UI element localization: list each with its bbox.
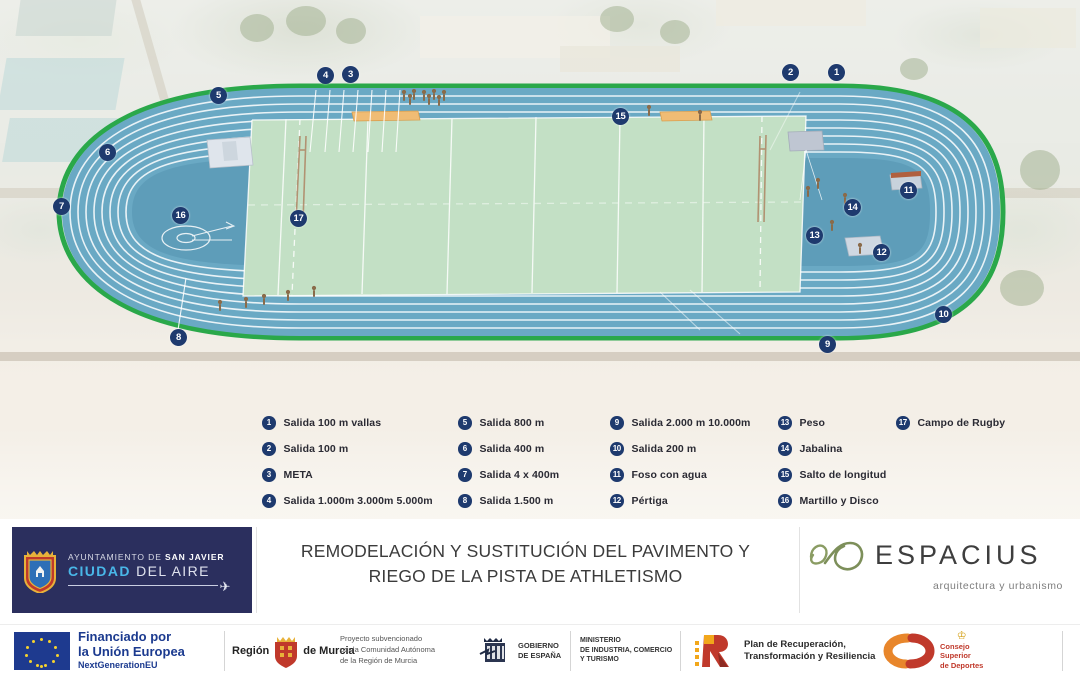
region-murcia-logo: Región de Murcia [232, 625, 355, 675]
eu-funding-block: Financiado por la Unión Europea NextGene… [14, 625, 185, 675]
legend-number: 14 [778, 442, 792, 456]
funding-footer: Financiado por la Unión Europea NextGene… [0, 624, 1080, 675]
legend-item[interactable]: 17 Campo de Rugby [896, 410, 1062, 436]
judges-platform [207, 137, 253, 168]
prtr-line1: Plan de Recuperación, [744, 639, 875, 651]
legend-number: 9 [610, 416, 624, 430]
ayuntamiento-line: AYUNTAMIENTO DE SAN JAVIER [68, 552, 224, 562]
footer-divider [680, 631, 681, 671]
legend-number: 7 [458, 468, 472, 482]
legend-label: Campo de Rugby [918, 417, 1006, 429]
athletics-track-plan [0, 0, 1080, 400]
legend-item[interactable]: 15 Salto de longitud [778, 462, 896, 488]
plan-marker-15[interactable]: 15 [612, 108, 629, 125]
banner-divider [256, 527, 257, 613]
ministerio-line3: Y TURISMO [580, 655, 672, 664]
subvencion-line3: de la Región de Murcia [340, 656, 435, 667]
legend-label: Pértiga [632, 495, 668, 507]
prtr-logo: Plan de Recuperación, Transformación y R… [694, 625, 875, 675]
legend-label: Salida 1.500 m [480, 495, 554, 507]
legend-label: Salida 100 m [284, 443, 349, 455]
legend-item[interactable]: 11 Foso con agua [610, 462, 778, 488]
plan-marker-4[interactable]: 4 [317, 67, 334, 84]
legend-number: 1 [262, 416, 276, 430]
legend-number: 11 [610, 468, 624, 482]
legend-column: 9 Salida 2.000 m 10.000m 10 Salida 200 m… [610, 410, 778, 514]
airplane-icon: ✈ [220, 579, 231, 595]
legend-number: 6 [458, 442, 472, 456]
plan-marker-1[interactable]: 1 [828, 64, 845, 81]
plan-marker-16[interactable]: 16 [172, 207, 189, 224]
gobierno-line1: GOBIERNO [518, 641, 561, 651]
footer-divider [1062, 631, 1063, 671]
legend-number: 2 [262, 442, 276, 456]
plan-marker-9[interactable]: 9 [819, 336, 836, 353]
rugby-infield [243, 116, 806, 296]
legend-item[interactable]: 8 Salida 1.500 m [458, 488, 610, 514]
legend-label: Salida 200 m [632, 443, 697, 455]
project-title-line1: REMODELACIÓN Y SUSTITUCIÓN DEL PAVIMENTO… [258, 539, 793, 564]
project-banner: AYUNTAMIENTO DE SAN JAVIER CIUDAD DEL AI… [0, 519, 1080, 622]
eu-line3: NextGenerationEU [78, 660, 185, 670]
legend-label: Foso con agua [632, 469, 707, 481]
subvencion-line1: Proyecto subvencionado [340, 634, 435, 645]
legend-label: Salida 2.000 m 10.000m [632, 417, 751, 429]
crown-icon: ♔ [940, 631, 983, 642]
csd-line3: de Deportes [940, 661, 983, 670]
csd-mark-icon [880, 633, 940, 669]
legend-label: Salida 1.000m 3.000m 5.000m [284, 495, 433, 507]
legend-label: META [284, 469, 313, 481]
legend: 1 Salida 100 m vallas 2 Salida 100 m 3 M… [262, 410, 1062, 514]
ciudad-del-aire-line: CIUDAD DEL AIRE [68, 563, 224, 579]
ayuntamiento-san-javier-logo: AYUNTAMIENTO DE SAN JAVIER CIUDAD DEL AI… [12, 527, 252, 613]
legend-column: 13 Peso 14 Jabalina 15 Salto de longitud… [778, 410, 896, 514]
murcia-pre-text: Región [232, 645, 269, 657]
plane-rule: ✈ [68, 583, 224, 589]
legend-label: Salida 100 m vallas [284, 417, 382, 429]
legend-label: Salida 400 m [480, 443, 545, 455]
legend-item[interactable]: 13 Peso [778, 410, 896, 436]
prtr-line2: Transformación y Resiliencia [744, 651, 875, 663]
plan-marker-12[interactable]: 12 [873, 244, 890, 261]
legend-item[interactable]: 5 Salida 800 m [458, 410, 610, 436]
san-javier-text: AYUNTAMIENTO DE SAN JAVIER CIUDAD DEL AI… [68, 552, 224, 589]
eu-line1: Financiado por [78, 630, 185, 645]
espacius-mark-icon [805, 533, 875, 577]
plan-marker-5[interactable]: 5 [210, 87, 227, 104]
ministerio-block: MINISTERIO DE INDUSTRIA, COMERCIO Y TURI… [580, 625, 672, 675]
legend-column: 1 Salida 100 m vallas 2 Salida 100 m 3 M… [262, 410, 458, 514]
legend-item[interactable]: 12 Pértiga [610, 488, 778, 514]
legend-number: 8 [458, 494, 472, 508]
coat-of-arms-icon [22, 547, 58, 593]
eu-flag-icon [14, 632, 70, 670]
project-title-line2: RIEGO DE LA PISTA DE ATHLETISMO [258, 564, 793, 589]
legend-column: 5 Salida 800 m 6 Salida 400 m 7 Salida 4… [458, 410, 610, 514]
legend-number: 17 [896, 416, 910, 430]
legend-label: Martillo y Disco [800, 495, 879, 507]
legend-number: 15 [778, 468, 792, 482]
footer-divider [224, 631, 225, 671]
murcia-shield-icon [273, 634, 299, 668]
csd-logo: ♔ Consejo Superior de Deportes [880, 625, 983, 675]
banner-divider [799, 527, 800, 613]
gobierno-espana-logo: GOBIERNO DE ESPAÑA [478, 625, 561, 675]
csd-line1: Consejo [940, 642, 983, 651]
plan-marker-3[interactable]: 3 [342, 66, 359, 83]
legend-item[interactable]: 6 Salida 400 m [458, 436, 610, 462]
subvencion-text-block: Proyecto subvencionado por la Comunidad … [340, 625, 435, 675]
legend-number: 12 [610, 494, 624, 508]
legend-number: 3 [262, 468, 276, 482]
plan-marker-10[interactable]: 10 [935, 306, 952, 323]
legend-number: 5 [458, 416, 472, 430]
legend-number: 16 [778, 494, 792, 508]
prtr-mark-icon [694, 631, 738, 671]
ministerio-line2: DE INDUSTRIA, COMERCIO [580, 646, 672, 655]
plan-marker-14[interactable]: 14 [844, 199, 861, 216]
espacius-logo: ESPACIUS arquitectura y urbanismo [805, 533, 1067, 609]
legend-label: Salida 800 m [480, 417, 545, 429]
spain-crest-icon [478, 634, 512, 668]
legend-number: 13 [778, 416, 792, 430]
gobierno-line2: DE ESPAÑA [518, 651, 561, 661]
project-title: REMODELACIÓN Y SUSTITUCIÓN DEL PAVIMENTO… [258, 539, 793, 590]
legend-label: Jabalina [800, 443, 843, 455]
legend-number: 10 [610, 442, 624, 456]
poster-page: 1234567891011121314151617 1 Salida 100 m… [0, 0, 1080, 675]
legend-item[interactable]: 7 Salida 4 x 400m [458, 462, 610, 488]
legend-column: 17 Campo de Rugby [896, 410, 1062, 436]
legend-item[interactable]: 16 Martillo y Disco [778, 488, 896, 514]
ministerio-line1: MINISTERIO [580, 636, 672, 645]
legend-item[interactable]: 9 Salida 2.000 m 10.000m [610, 410, 778, 436]
legend-label: Peso [800, 417, 826, 429]
legend-item[interactable]: 4 Salida 1.000m 3.000m 5.000m [262, 488, 458, 514]
plan-marker-17[interactable]: 17 [290, 210, 307, 227]
csd-line2: Superior [940, 651, 983, 660]
subvencion-line2: por la Comunidad Autónoma [340, 645, 435, 656]
legend-item[interactable]: 3 META [262, 462, 458, 488]
plan-marker-13[interactable]: 13 [806, 227, 823, 244]
footer-divider [570, 631, 571, 671]
legend-item[interactable]: 10 Salida 200 m [610, 436, 778, 462]
espacius-tagline: arquitectura y urbanismo [805, 580, 1067, 592]
plan-marker-2[interactable]: 2 [782, 64, 799, 81]
plan-marker-8[interactable]: 8 [170, 329, 187, 346]
legend-item[interactable]: 1 Salida 100 m vallas [262, 410, 458, 436]
legend-label: Salida 4 x 400m [480, 469, 560, 481]
eu-line2: la Unión Europea [78, 645, 185, 660]
legend-item[interactable]: 2 Salida 100 m [262, 436, 458, 462]
espacius-name: ESPACIUS [875, 540, 1042, 571]
plan-marker-6[interactable]: 6 [99, 144, 116, 161]
legend-label: Salto de longitud [800, 469, 887, 481]
eu-funding-text: Financiado por la Unión Europea NextGene… [78, 630, 185, 670]
legend-item[interactable]: 14 Jabalina [778, 436, 896, 462]
plan-marker-7[interactable]: 7 [53, 198, 70, 215]
legend-number: 4 [262, 494, 276, 508]
plan-marker-11[interactable]: 11 [900, 182, 917, 199]
